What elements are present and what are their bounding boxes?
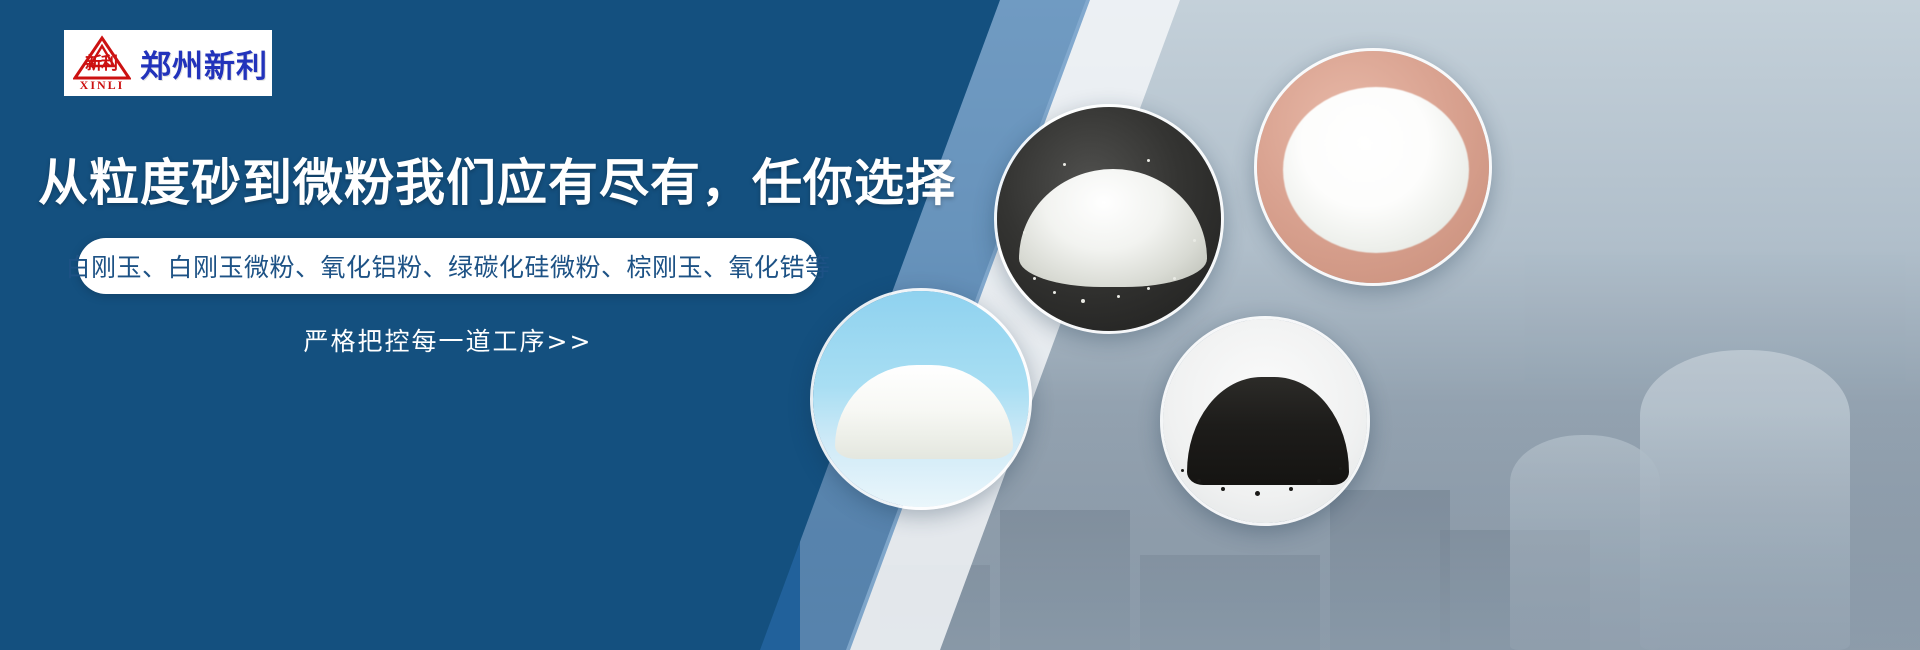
hero-headline: 从粒度砂到微粉我们应有尽有，任你选择 [38, 143, 998, 215]
logo-triangle-mark: 新利 XINLI [70, 33, 134, 93]
logo-chinese-mark: 新利 [76, 52, 126, 76]
product-photo-black-silicon-carbide [1160, 316, 1370, 526]
company-logo[interactable]: 新利 XINLI 郑州新利 [64, 30, 272, 96]
photo-inner [997, 107, 1221, 331]
grain-heap [1187, 377, 1349, 485]
logo-company-name: 郑州新利 [140, 41, 268, 86]
product-photo-white-fused-alumina-grit [994, 104, 1224, 334]
product-list-pill: 白刚玉、白刚玉微粉、氧化铝粉、绿碳化硅微粉、棕刚玉、氧化锆等 [78, 238, 818, 294]
grit-heap [1019, 169, 1207, 287]
powder-heap [835, 365, 1013, 459]
photo-inner [1163, 319, 1367, 523]
product-photo-white-alumina-micropowder [1254, 48, 1492, 286]
product-list-text: 白刚玉、白刚玉微粉、氧化铝粉、绿碳化硅微粉、棕刚玉、氧化锆等 [66, 248, 831, 284]
promo-banner: 新利 XINLI 郑州新利 从粒度砂到微粉我们应有尽有，任你选择 白刚玉、白刚玉… [0, 0, 1920, 650]
photo-inner [1257, 51, 1489, 283]
powder-heap [1283, 87, 1469, 253]
logo-pinyin-mark: XINLI [70, 78, 134, 93]
hero-tagline[interactable]: 严格把控每一道工序>> [78, 322, 818, 358]
